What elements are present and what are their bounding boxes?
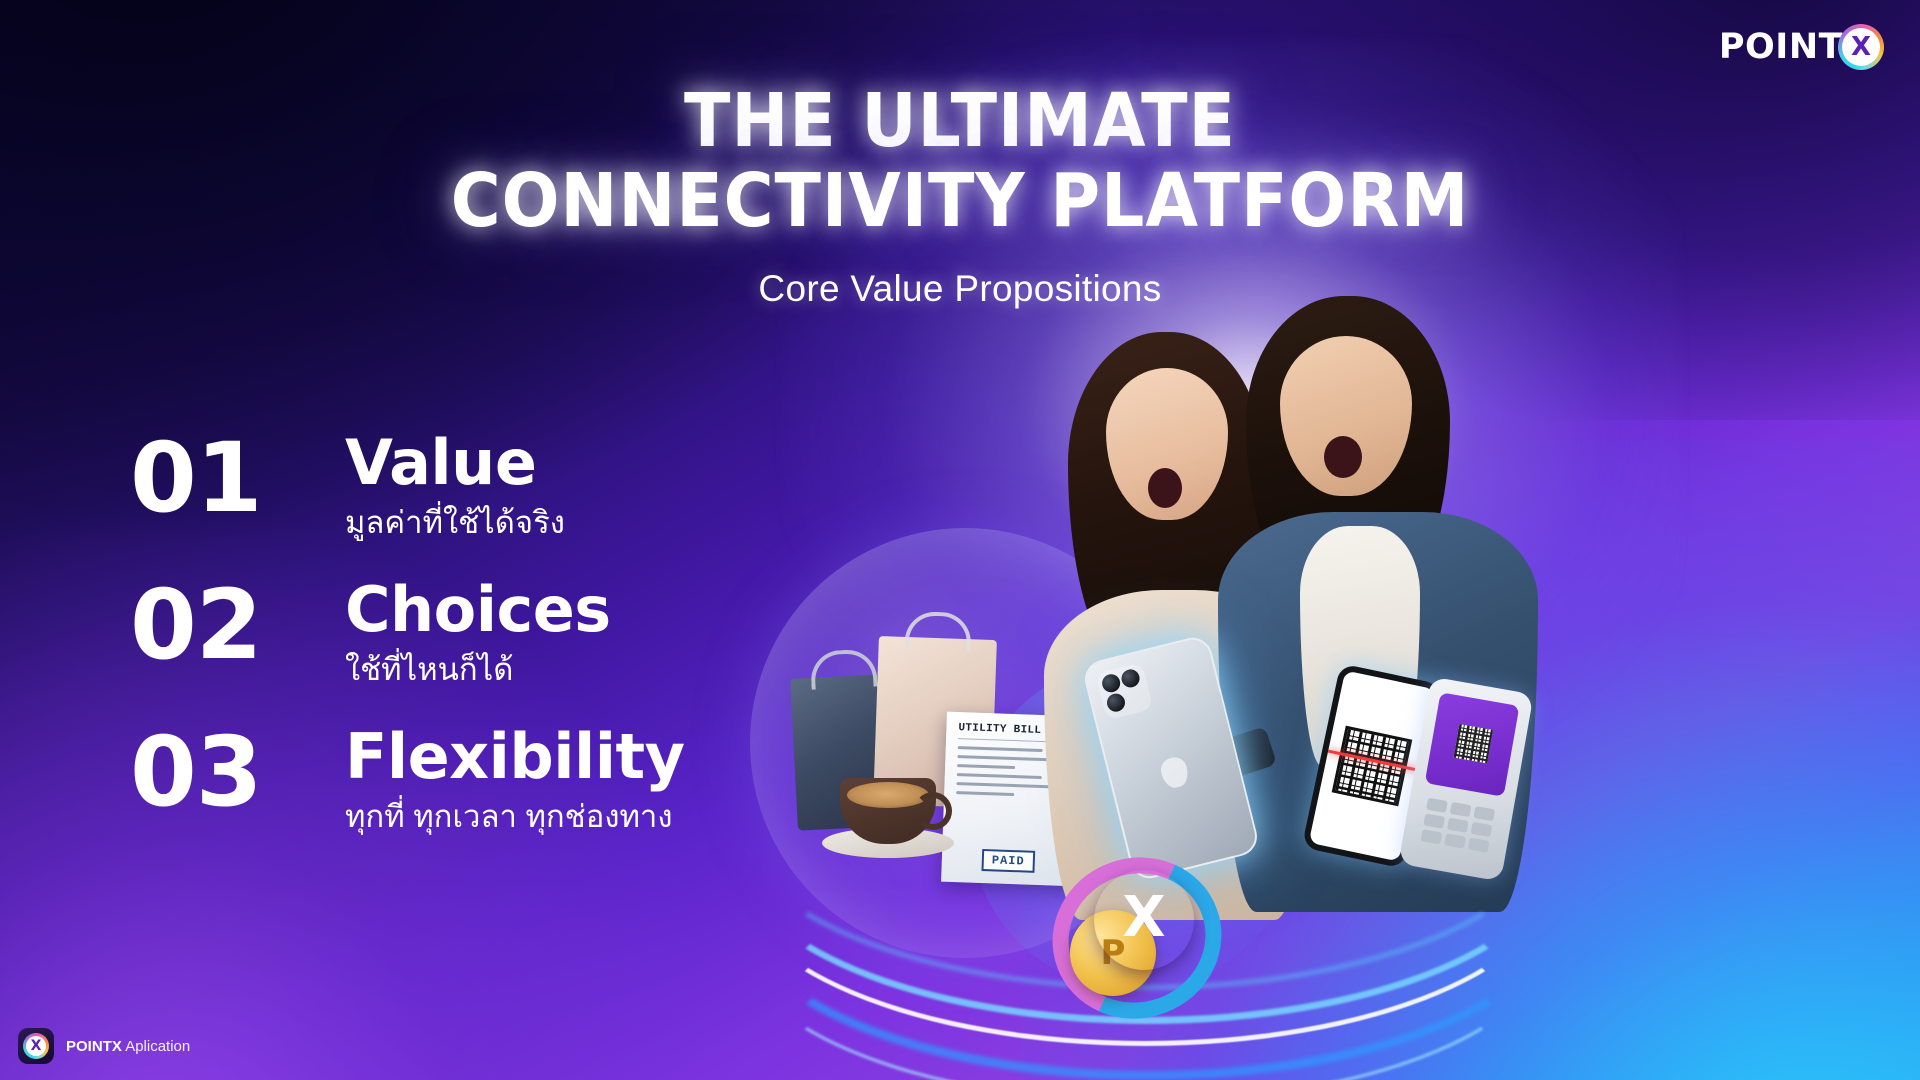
logo-wordmark: POINT	[1719, 30, 1843, 65]
man-mouth	[1324, 436, 1362, 478]
headline-line-1: THE ULTIMATE	[684, 78, 1236, 164]
app-icon-badge: X	[23, 1033, 49, 1059]
value-proposition-list: 01 Value มูลค่าที่ใช้ได้จริง 02 Choices …	[130, 430, 830, 836]
footer-brand: POINTX	[66, 1038, 122, 1055]
page-title: THE ULTIMATE CONNECTIVITY PLATFORM	[77, 82, 1843, 242]
pointx-logo: POINT X	[1719, 24, 1884, 70]
footer: X POINTX Aplication	[18, 1028, 190, 1064]
list-item: 01 Value มูลค่าที่ใช้ได้จริง	[130, 430, 830, 543]
x-coin-icon: X	[1094, 870, 1194, 970]
hero-illustration: UTILITY BILL PAID	[700, 280, 1920, 1080]
x-coin-glyph: X	[1122, 890, 1165, 946]
prop-number: 03	[130, 724, 345, 820]
headline-line-2: CONNECTIVITY PLATFORM	[77, 162, 1843, 242]
prop-body: Choices ใช้ที่ไหนก็ได้	[345, 577, 611, 690]
footer-app-word: Aplication	[125, 1038, 190, 1055]
list-item: 03 Flexibility ทุกที่ ทุกเวลา ทุกช่องทาง	[130, 724, 830, 837]
slide-canvas: POINT X THE ULTIMATE CONNECTIVITY PLATFO…	[0, 0, 1920, 1080]
pointx-app-icon: X	[18, 1028, 54, 1064]
prop-body: Value มูลค่าที่ใช้ได้จริง	[345, 430, 565, 543]
woman-mouth	[1148, 468, 1182, 508]
prop-number: 02	[130, 577, 345, 673]
prop-title: Value	[345, 432, 565, 494]
footer-label: POINTX Aplication	[66, 1038, 190, 1055]
list-item: 02 Choices ใช้ที่ไหนก็ได้	[130, 577, 830, 690]
prop-body: Flexibility ทุกที่ ทุกเวลา ทุกช่องทาง	[345, 724, 685, 837]
headline-block: THE ULTIMATE CONNECTIVITY PLATFORM Core …	[0, 82, 1920, 310]
prop-number: 01	[130, 430, 345, 526]
logo-x-glyph: X	[1851, 34, 1871, 60]
prop-subtitle: ใช้ที่ไหนก็ได้	[345, 651, 611, 690]
app-icon-x-glyph: X	[31, 1039, 42, 1053]
prop-subtitle: ทุกที่ ทุกเวลา ทุกช่องทาง	[345, 798, 685, 837]
logo-x-badge-icon: X	[1838, 24, 1884, 70]
prop-title: Flexibility	[345, 726, 685, 788]
points-exchange-badge: P X	[1052, 858, 1222, 1018]
prop-title: Choices	[345, 579, 611, 641]
page-subtitle: Core Value Propositions	[0, 268, 1920, 310]
prop-subtitle: มูลค่าที่ใช้ได้จริง	[345, 504, 565, 543]
